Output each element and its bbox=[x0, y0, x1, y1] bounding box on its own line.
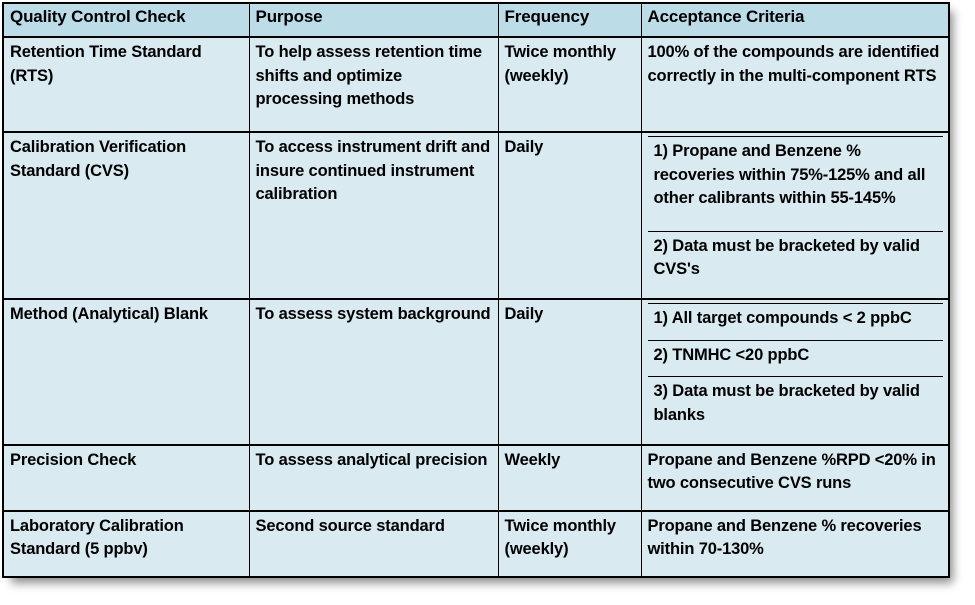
cell-frequency: Daily bbox=[498, 132, 641, 299]
cell-criteria: Propane and Benzene %RPD <20% in two con… bbox=[641, 445, 949, 511]
cell-criteria: 100% of the compounds are identified cor… bbox=[641, 37, 949, 132]
criteria-item: 2) Data must be bracketed by valid CVS's bbox=[648, 231, 944, 296]
table-body: Retention Time Standard (RTS) To help as… bbox=[3, 37, 949, 577]
column-header-frequency: Frequency bbox=[498, 3, 641, 37]
column-header-acceptance-criteria: Acceptance Criteria bbox=[641, 3, 949, 37]
criteria-item: 1) Propane and Benzene % recoveries with… bbox=[648, 136, 944, 231]
cell-frequency: Weekly bbox=[498, 445, 641, 511]
table-row: Calibration Verification Standard (CVS) … bbox=[3, 132, 949, 299]
criteria-subrow: 2) Data must be bracketed by valid CVS's bbox=[648, 231, 944, 296]
table-row: Method (Analytical) Blank To assess syst… bbox=[3, 299, 949, 445]
cell-criteria-split: 1) Propane and Benzene % recoveries with… bbox=[641, 132, 949, 299]
cell-frequency: Twice monthly (weekly) bbox=[498, 511, 641, 577]
table-row: Precision Check To assess analytical pre… bbox=[3, 445, 949, 511]
cell-purpose: To help assess retention time shifts and… bbox=[249, 37, 498, 132]
cell-frequency: Daily bbox=[498, 299, 641, 445]
criteria-subrow: 1) Propane and Benzene % recoveries with… bbox=[648, 136, 944, 231]
column-header-quality-control-check: Quality Control Check bbox=[3, 3, 249, 37]
cell-purpose: To assess analytical precision bbox=[249, 445, 498, 511]
table-row: Retention Time Standard (RTS) To help as… bbox=[3, 37, 949, 132]
criteria-subtable: 1) Propane and Benzene % recoveries with… bbox=[648, 136, 944, 296]
table-row: Laboratory Calibration Standard (5 ppbv)… bbox=[3, 511, 949, 577]
column-header-purpose: Purpose bbox=[249, 3, 498, 37]
criteria-subrow: 2) TNMHC <20 ppbC bbox=[648, 340, 944, 377]
quality-control-table: Quality Control Check Purpose Frequency … bbox=[2, 2, 950, 578]
cell-check: Calibration Verification Standard (CVS) bbox=[3, 132, 249, 299]
criteria-item: 3) Data must be bracketed by valid blank… bbox=[648, 377, 944, 442]
cell-check: Method (Analytical) Blank bbox=[3, 299, 249, 445]
table-header: Quality Control Check Purpose Frequency … bbox=[3, 3, 949, 37]
criteria-item: 1) All target compounds < 2 ppbC bbox=[648, 304, 944, 341]
cell-purpose: To access instrument drift and insure co… bbox=[249, 132, 498, 299]
cell-criteria: Propane and Benzene % recoveries within … bbox=[641, 511, 949, 577]
cell-purpose: To assess system background bbox=[249, 299, 498, 445]
cell-purpose: Second source standard bbox=[249, 511, 498, 577]
criteria-subtable: 1) All target compounds < 2 ppbC 2) TNMH… bbox=[648, 303, 944, 442]
criteria-item: 2) TNMHC <20 ppbC bbox=[648, 340, 944, 377]
cell-criteria-split: 1) All target compounds < 2 ppbC 2) TNMH… bbox=[641, 299, 949, 445]
header-row: Quality Control Check Purpose Frequency … bbox=[3, 3, 949, 37]
cell-check: Precision Check bbox=[3, 445, 249, 511]
cell-frequency: Twice monthly (weekly) bbox=[498, 37, 641, 132]
criteria-subrow: 1) All target compounds < 2 ppbC bbox=[648, 304, 944, 341]
cell-check: Laboratory Calibration Standard (5 ppbv) bbox=[3, 511, 249, 577]
criteria-subrow: 3) Data must be bracketed by valid blank… bbox=[648, 377, 944, 442]
quality-control-table-container: Quality Control Check Purpose Frequency … bbox=[2, 2, 948, 578]
cell-check: Retention Time Standard (RTS) bbox=[3, 37, 249, 132]
